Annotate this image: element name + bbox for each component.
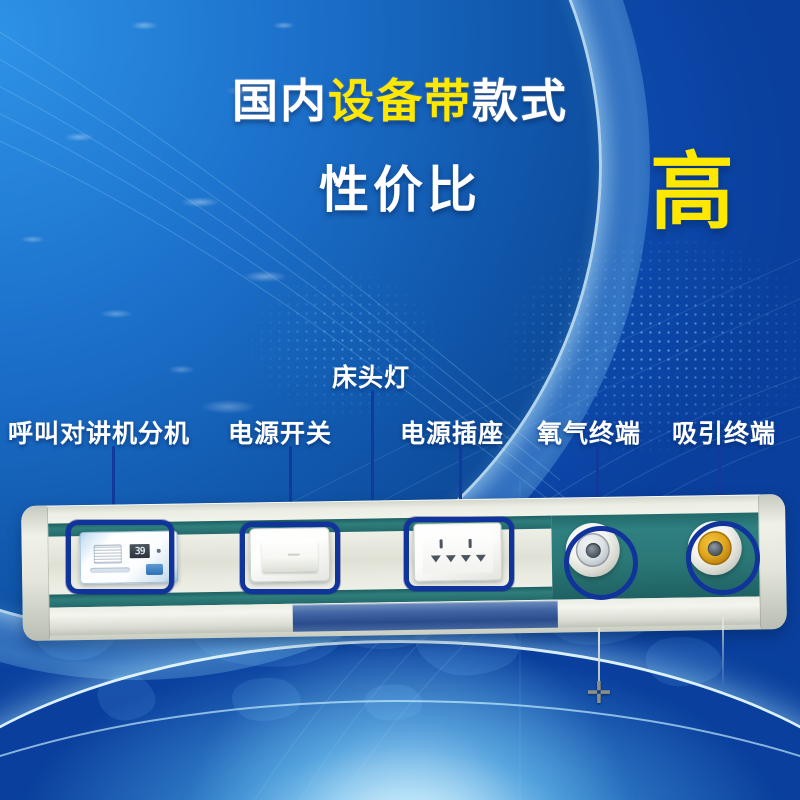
callout-label-power-switch: 电源开关 [228, 414, 332, 450]
callout-label-bed-lamp: 床头灯 [332, 358, 410, 394]
unit-end-cap-left [21, 506, 50, 641]
unit-end-cap-right [758, 494, 787, 629]
highlight-box-intercom [66, 520, 174, 594]
headline-part1: 国内 [232, 75, 328, 127]
callout-label-intercom: 呼叫对讲机分机 [8, 414, 190, 450]
highlight-circle-suction [686, 521, 760, 595]
headline-big-char: 高 [650, 150, 734, 234]
bed-lamp-diffuser [293, 601, 558, 632]
callout-label-suction: 吸引终端 [672, 414, 776, 450]
callout-label-oxygen: 氧气终端 [537, 414, 641, 450]
pull-cord-handle-icon[interactable]: ✛ [585, 680, 613, 708]
promo-banner: 国内设备带款式 性价比 高 呼叫对讲机分机 电源开关 床头灯 电源插座 氧气终端… [0, 0, 800, 800]
suction-tube-line [722, 618, 724, 688]
headline-part3: 款式 [472, 75, 568, 127]
highlight-box-power-switch [240, 522, 340, 594]
highlight-box-power-socket [404, 517, 514, 591]
headline-highlight: 设备带 [328, 75, 472, 127]
headline: 国内设备带款式 [0, 78, 800, 124]
callout-label-power-socket: 电源插座 [400, 414, 504, 450]
highlight-circle-oxygen [564, 526, 638, 600]
halftone-dot-field-secondary [230, 255, 460, 435]
